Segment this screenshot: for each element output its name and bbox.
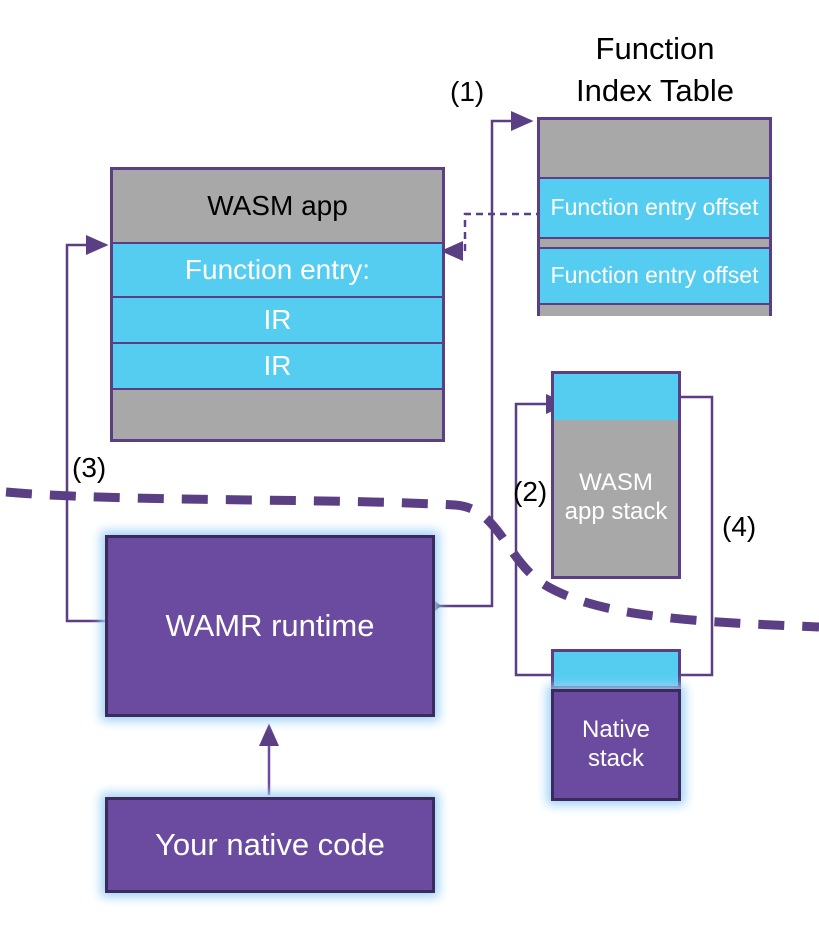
native-stack-label-line1: Native bbox=[582, 716, 650, 745]
fit-title-line1: Function bbox=[515, 28, 795, 70]
wamr-runtime-block[interactable]: WAMR runtime bbox=[105, 535, 435, 717]
fit-entry-1-label: Function entry offset bbox=[551, 195, 759, 221]
diagram-canvas: Function Index Table Function entry offs… bbox=[0, 0, 819, 925]
step-label-1: (1) bbox=[450, 76, 484, 108]
wasm-app-ir-row-2[interactable]: IR bbox=[113, 344, 442, 390]
wasm-app-stack-label-line2: app stack bbox=[565, 498, 668, 527]
your-native-code-label: Your native code bbox=[155, 829, 385, 862]
step-label-3: (3) bbox=[72, 452, 106, 484]
wasm-app-ir-2-label: IR bbox=[264, 350, 292, 382]
wasm-app-stack-block[interactable]: WASM app stack bbox=[551, 371, 681, 579]
native-stack-top-frame bbox=[551, 649, 681, 689]
wasm-app-ir-row-1[interactable]: IR bbox=[113, 298, 442, 344]
wasm-app-stack-label-line1: WASM bbox=[565, 469, 668, 498]
step-label-4: (4) bbox=[722, 511, 756, 543]
function-index-table-title: Function Index Table bbox=[515, 28, 795, 112]
native-stack-body: Native stack bbox=[551, 689, 681, 801]
wasm-app-tail-row bbox=[113, 390, 442, 439]
wasm-app-title: WASM app bbox=[207, 190, 348, 222]
wasm-app-function-entry-row[interactable]: Function entry: bbox=[113, 242, 442, 298]
wasm-app-block[interactable]: WASM app Function entry: IR IR bbox=[110, 167, 445, 442]
fit-row-separator-2 bbox=[540, 305, 769, 316]
fit-title-line2: Index Table bbox=[515, 70, 795, 112]
fit-row-entry-offset-2[interactable]: Function entry offset bbox=[540, 247, 769, 305]
function-index-table[interactable]: Function entry offset Function entry off… bbox=[537, 117, 772, 316]
fit-row-separator-1 bbox=[540, 239, 769, 247]
fit-row-entry-offset-1[interactable]: Function entry offset bbox=[540, 177, 769, 239]
wasm-app-stack-top-frame bbox=[554, 374, 678, 420]
fit-row-header bbox=[540, 120, 769, 177]
wasm-app-ir-1-label: IR bbox=[264, 304, 292, 336]
wasm-app-function-entry-label: Function entry: bbox=[185, 254, 370, 286]
your-native-code-block[interactable]: Your native code bbox=[105, 797, 435, 893]
arrow-step1 bbox=[435, 121, 531, 606]
fit-entry-2-label: Function entry offset bbox=[551, 263, 759, 289]
native-stack-label-line2: stack bbox=[582, 745, 650, 774]
wasm-app-stack-body: WASM app stack bbox=[554, 420, 678, 576]
wamr-runtime-label: WAMR runtime bbox=[166, 610, 375, 643]
native-stack-block[interactable]: Native stack bbox=[551, 649, 681, 801]
wasm-app-header: WASM app bbox=[113, 170, 442, 242]
step-label-2: (2) bbox=[513, 476, 547, 508]
